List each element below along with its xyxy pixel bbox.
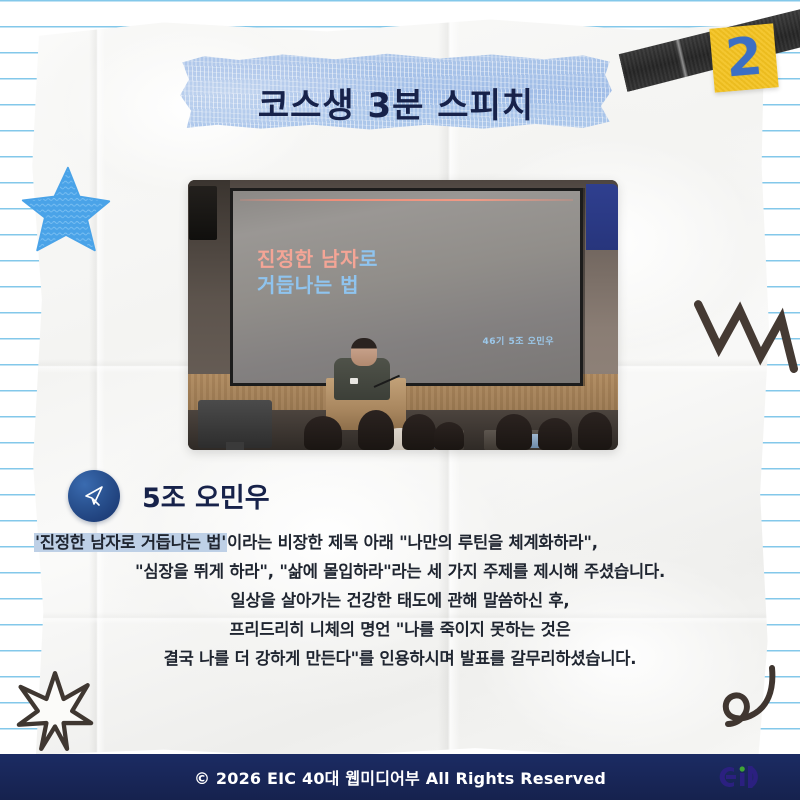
audience-head (496, 414, 532, 450)
audience-head (538, 418, 572, 450)
zigzag-doodle-icon (694, 296, 798, 400)
slide-headline-part2: 로 (359, 247, 378, 271)
body-line-1: '진정한 남자로 거듭나는 법'이라는 비장한 제목 아래 "나만의 루틴을 체… (34, 528, 766, 557)
body-highlight-quote: '진정한 남자로 거듭나는 법' (34, 533, 227, 552)
page-number-badge: 2 (709, 23, 778, 92)
body-line-5: 결국 나를 더 강하게 만든다"를 인용하시며 발표를 갈무리하셨습니다. (34, 644, 766, 673)
projector-screen-frame: 진정한 남자로 거듭나는 법 46기 5조 오민우 (230, 188, 583, 386)
speaker-name-row: 5조 오민우 (68, 470, 276, 522)
stage-monitor (198, 400, 272, 448)
page-number-label: 2 (724, 31, 765, 86)
body-line-2: "심장을 뛰게 하라", "삶에 몰입하라"라는 세 가지 주제를 제시해 주셨… (34, 557, 766, 586)
projector-screen: 진정한 남자로 거듭나는 법 46기 5조 오민우 (233, 191, 580, 383)
wall-speaker-box (189, 186, 217, 240)
star-sticker-icon (18, 162, 114, 258)
page-title: 코스생 3분 스피치 (178, 78, 614, 127)
eid-logo-icon (718, 762, 778, 792)
body-line-1-rest: 이라는 비장한 제목 아래 "나만의 루틴을 체계화하라", (227, 533, 598, 552)
slide-accent-line (240, 199, 573, 201)
audience-head (578, 412, 612, 450)
screen-cord (583, 188, 585, 386)
social-card: 2 코스생 3분 스피치 진정한 남자로 거듭나는 법 46기 5조 오민우 (0, 0, 800, 800)
body-line-4: 프리드리히 니체의 명언 "나를 죽이지 못하는 것은 (34, 615, 766, 644)
slide-credit-label: 46기 5조 오민우 (483, 334, 554, 347)
presentation-photo: 진정한 남자로 거듭나는 법 46기 5조 오민우 (188, 180, 618, 450)
speaker-name-tag (350, 378, 358, 384)
cursor-arrow-icon (68, 470, 120, 522)
body-line-3: 일상을 살아가는 건강한 태도에 관해 말씀하신 후, (34, 586, 766, 615)
slide-headline-line2: 거듭나는 법 (257, 269, 359, 298)
copyright-label: © 2026 EIC 40대 웹미디어부 All Rights Reserved (194, 765, 606, 789)
tape-tear-line (674, 37, 688, 79)
audience-head (358, 410, 394, 450)
body-paragraph: '진정한 남자로 거듭나는 법'이라는 비장한 제목 아래 "나만의 루틴을 체… (34, 528, 766, 673)
spiral-doodle-icon (712, 664, 786, 750)
slide-headline-line1: 진정한 남자로 (257, 243, 378, 272)
speaker-head (351, 338, 377, 366)
cursor-arrow-glyph (81, 483, 107, 509)
audience-head (434, 422, 464, 450)
audience-head (304, 416, 342, 450)
asterisk-sticker-icon (12, 668, 98, 754)
speaker-name-label: 5조 오민우 (136, 475, 276, 517)
blue-wall-board (586, 184, 618, 250)
slide-headline-part1: 진정한 남자 (257, 247, 359, 271)
footer-bar: © 2026 EIC 40대 웹미디어부 All Rights Reserved (0, 754, 800, 800)
audience-head (402, 414, 436, 450)
